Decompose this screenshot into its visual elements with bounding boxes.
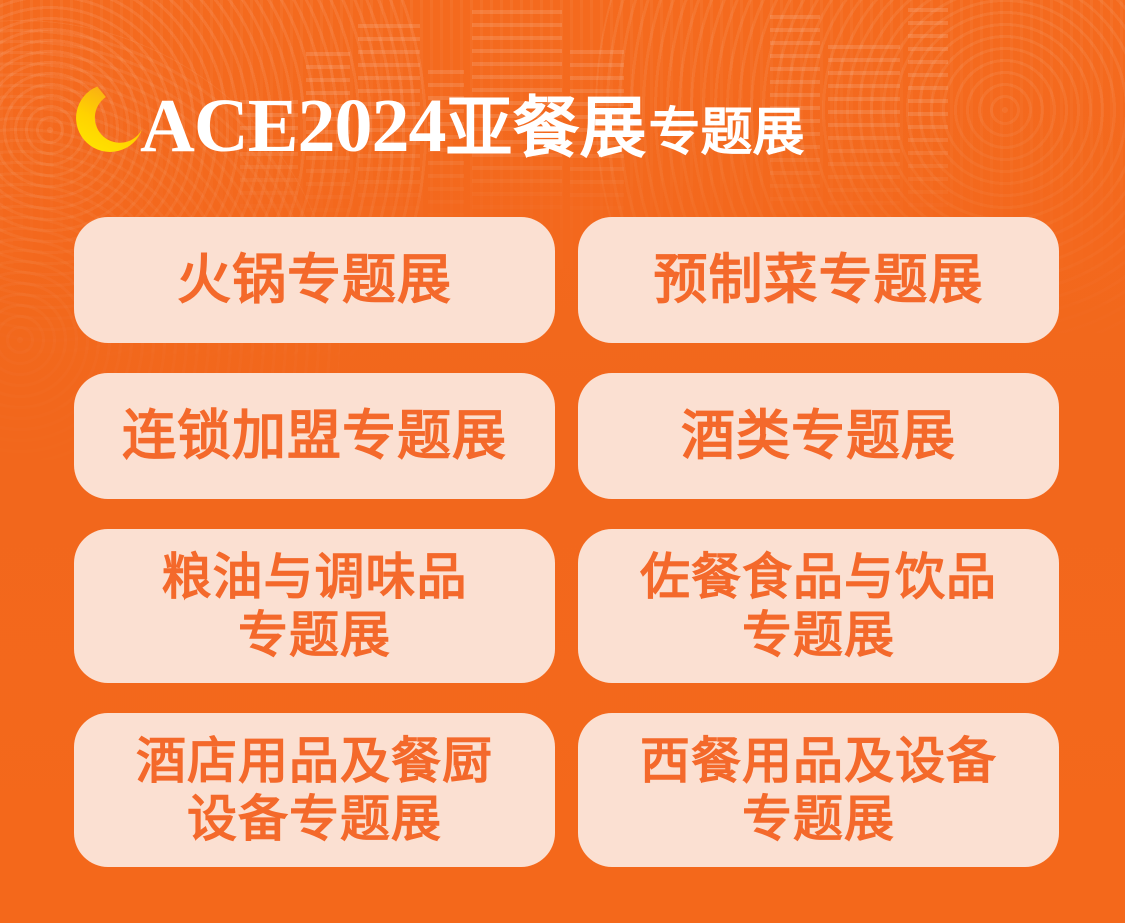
skyline-building xyxy=(908,0,948,220)
exhibition-card-grid: 火锅专题展预制菜专题展连锁加盟专题展酒类专题展粮油与调味品 专题展佐餐食品与饮品… xyxy=(74,217,1059,867)
exhibition-card-hotpot[interactable]: 火锅专题展 xyxy=(74,217,555,343)
exhibition-card-label: 佐餐食品与饮品 专题展 xyxy=(640,548,997,664)
poster-title-latin: ACE2024 xyxy=(140,84,445,168)
poster-subtitle: 专题展 xyxy=(648,108,804,162)
exhibition-card-label: 酒店用品及餐厨 设备专题展 xyxy=(136,732,493,848)
exhibition-card-franchise[interactable]: 连锁加盟专题展 xyxy=(74,373,555,499)
exhibition-card-liquor[interactable]: 酒类专题展 xyxy=(578,373,1059,499)
exhibition-card-label: 连锁加盟专题展 xyxy=(122,405,507,468)
exhibition-card-label: 预制菜专题展 xyxy=(654,249,984,312)
poster-header: ACE2024亚餐展 专题展 xyxy=(74,62,804,162)
exhibition-card-label: 粮油与调味品 专题展 xyxy=(162,548,468,664)
skyline-building xyxy=(828,45,900,220)
poster-canvas: ACE2024亚餐展 专题展 火锅专题展预制菜专题展连锁加盟专题展酒类专题展粮油… xyxy=(0,0,1125,923)
poster-title: ACE2024亚餐展 xyxy=(140,92,646,162)
exhibition-card-label: 酒类专题展 xyxy=(681,405,956,468)
exhibition-card-side-food[interactable]: 佐餐食品与饮品 专题展 xyxy=(578,529,1059,683)
cace-c-ring-logo-icon xyxy=(74,80,146,156)
exhibition-card-grain-oil[interactable]: 粮油与调味品 专题展 xyxy=(74,529,555,683)
exhibition-card-hotel-sup[interactable]: 酒店用品及餐厨 设备专题展 xyxy=(74,713,555,867)
exhibition-card-label: 西餐用品及设备 专题展 xyxy=(640,732,997,848)
exhibition-card-prepared[interactable]: 预制菜专题展 xyxy=(578,217,1059,343)
exhibition-card-western[interactable]: 西餐用品及设备 专题展 xyxy=(578,713,1059,867)
poster-title-cjk: 亚餐展 xyxy=(445,92,646,166)
exhibition-card-label: 火锅专题展 xyxy=(177,249,452,312)
